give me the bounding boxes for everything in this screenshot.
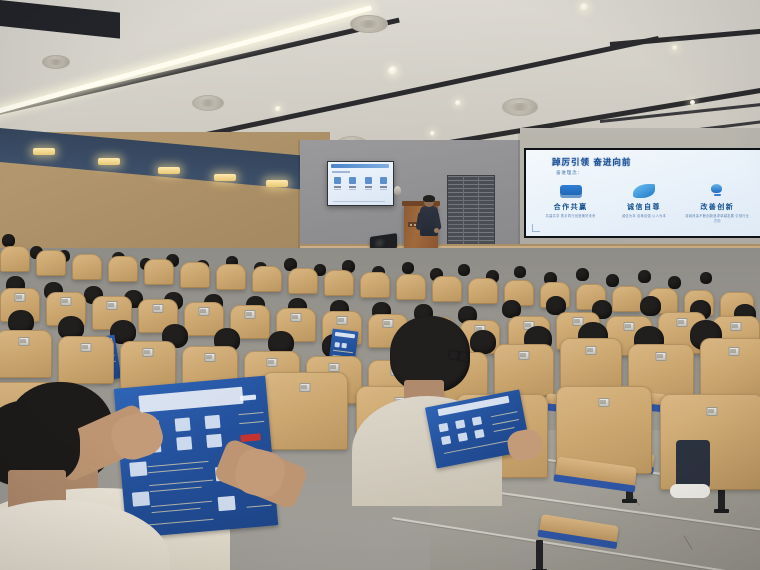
seat-number-plate <box>731 322 742 331</box>
seat-far-5[interactable] <box>144 259 174 285</box>
ceiling-vent-2 <box>192 95 224 111</box>
seat-row3-9[interactable] <box>494 344 554 396</box>
grille-divider-v2 <box>478 176 479 248</box>
seat-far-1[interactable] <box>0 246 30 272</box>
grille-divider-h2 <box>448 224 494 225</box>
ceiling-strip-6 <box>610 25 760 47</box>
seat-number-plate <box>586 346 597 355</box>
seat-far-18[interactable] <box>612 286 642 312</box>
seat-number-plate <box>707 407 718 416</box>
led-column-2: 诚信自尊 诚信为本 自尊自强 以人为本 <box>612 180 676 224</box>
presenter <box>418 196 440 248</box>
seat-number-plate <box>15 293 26 302</box>
downlight-1 <box>388 66 398 76</box>
ceiling-vent-1 <box>42 55 70 69</box>
ceiling-vent-5 <box>502 98 538 116</box>
wall-sconce-light-1 <box>33 148 55 155</box>
wall-sconce-light-5 <box>266 180 288 187</box>
led-screen-columns: 合作共赢 共建共享 携手同行创造美好未来 诚信自尊 诚信为本 自尊自强 以人为本… <box>534 180 754 224</box>
downlight-2 <box>580 3 589 12</box>
seat-far-6[interactable] <box>180 262 210 288</box>
grille-divider-h <box>448 200 494 201</box>
attendee-distant-15 <box>402 262 414 274</box>
ceiling-dark-corner <box>0 0 120 39</box>
seat-number-plate <box>624 322 635 331</box>
led-screen-title: 踔厉引领 奋进向前 <box>552 156 631 168</box>
presentation-header-bar <box>331 164 389 168</box>
downlight-3 <box>275 106 281 112</box>
seat-far-14[interactable] <box>468 278 498 304</box>
presentation-subtitle-line <box>332 171 350 173</box>
seat-number-plate <box>199 307 210 316</box>
downlight-5 <box>672 45 678 51</box>
led-column-3: 改善创新 持续改善不断创新追求卓越发展 引领行业方向 <box>685 180 749 224</box>
attendee-distant-17 <box>458 264 470 276</box>
seat-far-3[interactable] <box>72 254 102 280</box>
led-screen-corner-mark <box>532 224 540 232</box>
lightbulb-icon <box>685 180 749 202</box>
seat-number-plate <box>245 310 256 319</box>
shoe-icon <box>670 484 710 498</box>
seat-far-13[interactable] <box>432 276 462 302</box>
presentation-footer-line <box>333 201 385 202</box>
lecture-hall-photo: 踔厉引领 奋进向前 奋进理念： 合作共赢 共建共享 携手同行创造美好未来 诚信自… <box>0 0 760 570</box>
seat-row3-12[interactable] <box>700 338 760 400</box>
attendee-standing-right-legs <box>676 440 710 488</box>
ceiling-vent-3 <box>350 15 388 33</box>
led-screen-subtitle: 奋进理念： <box>556 170 583 176</box>
seat-number-plate <box>337 316 348 325</box>
seat-far-10[interactable] <box>324 270 354 296</box>
seat-far-9[interactable] <box>288 268 318 294</box>
person-icon <box>365 177 372 190</box>
grille-slats <box>448 176 494 248</box>
wall-grille-panel <box>447 175 495 249</box>
attendee-distant-21 <box>576 268 589 281</box>
chart-icon <box>334 177 341 190</box>
grille-divider-v <box>463 176 464 248</box>
presentation-icon-row <box>334 177 387 190</box>
seat-far-7[interactable] <box>216 264 246 290</box>
led-video-wall: 踔厉引领 奋进向前 奋进理念： 合作共赢 共建共享 携手同行创造美好未来 诚信自… <box>524 148 760 238</box>
wall-sconce-light-4 <box>214 174 236 181</box>
led-screen-surface: 踔厉引领 奋进向前 奋进理念： 合作共赢 共建共享 携手同行创造美好未来 诚信自… <box>526 150 760 236</box>
seat-number-plate <box>291 313 302 322</box>
attendee-extreme-foreground-shirt <box>0 500 170 570</box>
seat-number-plate <box>153 304 164 313</box>
downlight-8 <box>430 131 435 136</box>
seat-far-2[interactable] <box>36 250 66 276</box>
seat-number-plate <box>19 337 30 346</box>
led-column-2-description: 诚信为本 自尊自强 以人为本 <box>612 214 676 219</box>
downlight-6 <box>690 100 695 105</box>
seat-far-11[interactable] <box>360 272 390 298</box>
wall-sconce-light-2 <box>98 158 120 165</box>
attendee-standing-right <box>668 440 728 510</box>
led-column-3-description: 持续改善不断创新追求卓越发展 引领行业方向 <box>685 214 749 224</box>
led-column-2-heading: 诚信自尊 <box>612 202 676 212</box>
attendee-extreme-foreground <box>0 400 180 570</box>
seat-pedestal-3 <box>536 540 543 570</box>
led-column-1-heading: 合作共赢 <box>539 202 603 212</box>
seat-number-plate <box>143 348 154 357</box>
projection-screen <box>327 161 394 206</box>
leaf-icon <box>612 180 676 202</box>
seat-far-8[interactable] <box>252 266 282 292</box>
seat-number-plate <box>61 297 72 306</box>
seat-number-plate <box>677 318 688 327</box>
led-column-1: 合作共赢 共建共享 携手同行创造美好未来 <box>539 180 603 224</box>
seat-far-4[interactable] <box>108 256 138 282</box>
wall-sconce-light-3 <box>158 167 180 174</box>
gear-icon <box>380 177 387 190</box>
seat-number-plate <box>107 301 118 310</box>
seat-number-plate <box>329 363 340 372</box>
document-icon <box>349 177 356 190</box>
projection-screen-surface <box>328 162 393 205</box>
seat-number-plate <box>519 351 530 360</box>
led-column-3-heading: 改善创新 <box>685 202 749 212</box>
attendee-row3-8 <box>470 330 496 354</box>
attendee-distant-25 <box>700 272 712 284</box>
led-column-1-description: 共建共享 携手同行创造美好未来 <box>539 214 603 219</box>
attendee-distant-23 <box>638 270 651 283</box>
handshake-icon <box>539 180 603 202</box>
seat-row3-10[interactable] <box>560 338 622 392</box>
seat-number-plate <box>729 347 740 356</box>
seat-number-plate <box>81 343 92 352</box>
downlight-4 <box>455 100 461 106</box>
seat-number-plate <box>599 398 610 407</box>
ceiling-sensor <box>394 186 401 195</box>
attendee-distant-19 <box>514 266 526 278</box>
seat-number-plate <box>656 352 667 361</box>
seat-far-12[interactable] <box>396 274 426 300</box>
